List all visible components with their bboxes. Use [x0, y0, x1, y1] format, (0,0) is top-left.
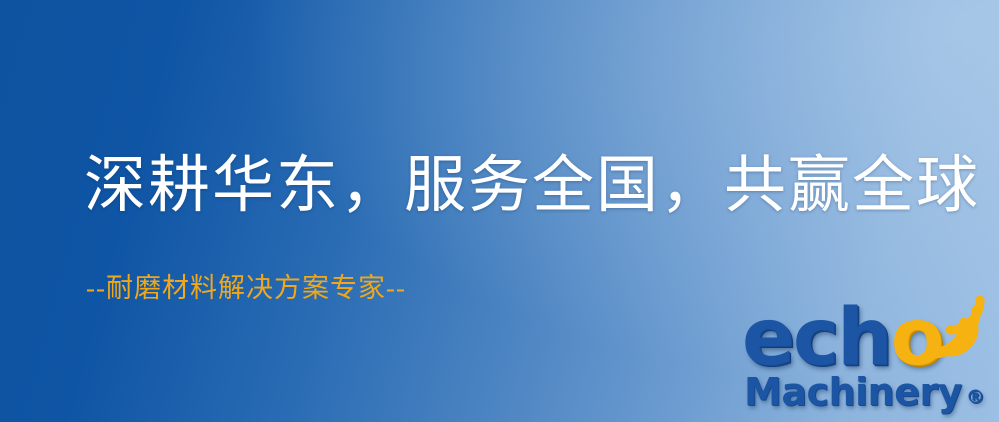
logo-tagline: Machinery ®: [744, 370, 984, 414]
promo-banner: 深耕华东，服务全国，共赢全球 --耐磨材料解决方案专家-- e c h o: [0, 0, 999, 422]
logo-wordmark: e c h o: [742, 298, 942, 372]
wifi-arcs-icon: [928, 294, 992, 360]
banner-subtitle: --耐磨材料解决方案专家--: [86, 266, 406, 305]
echo-machinery-logo[interactable]: e c h o Machinery: [742, 298, 994, 418]
banner-headline: 深耕华东，服务全国，共赢全球: [84, 152, 980, 221]
logo-letter-c: c: [793, 306, 837, 372]
logo-letter-h: h: [837, 306, 891, 372]
logo-letter-e: e: [742, 306, 793, 372]
registered-trademark-icon: ®: [966, 386, 985, 408]
logo-tagline-text: Machinery: [744, 370, 962, 414]
